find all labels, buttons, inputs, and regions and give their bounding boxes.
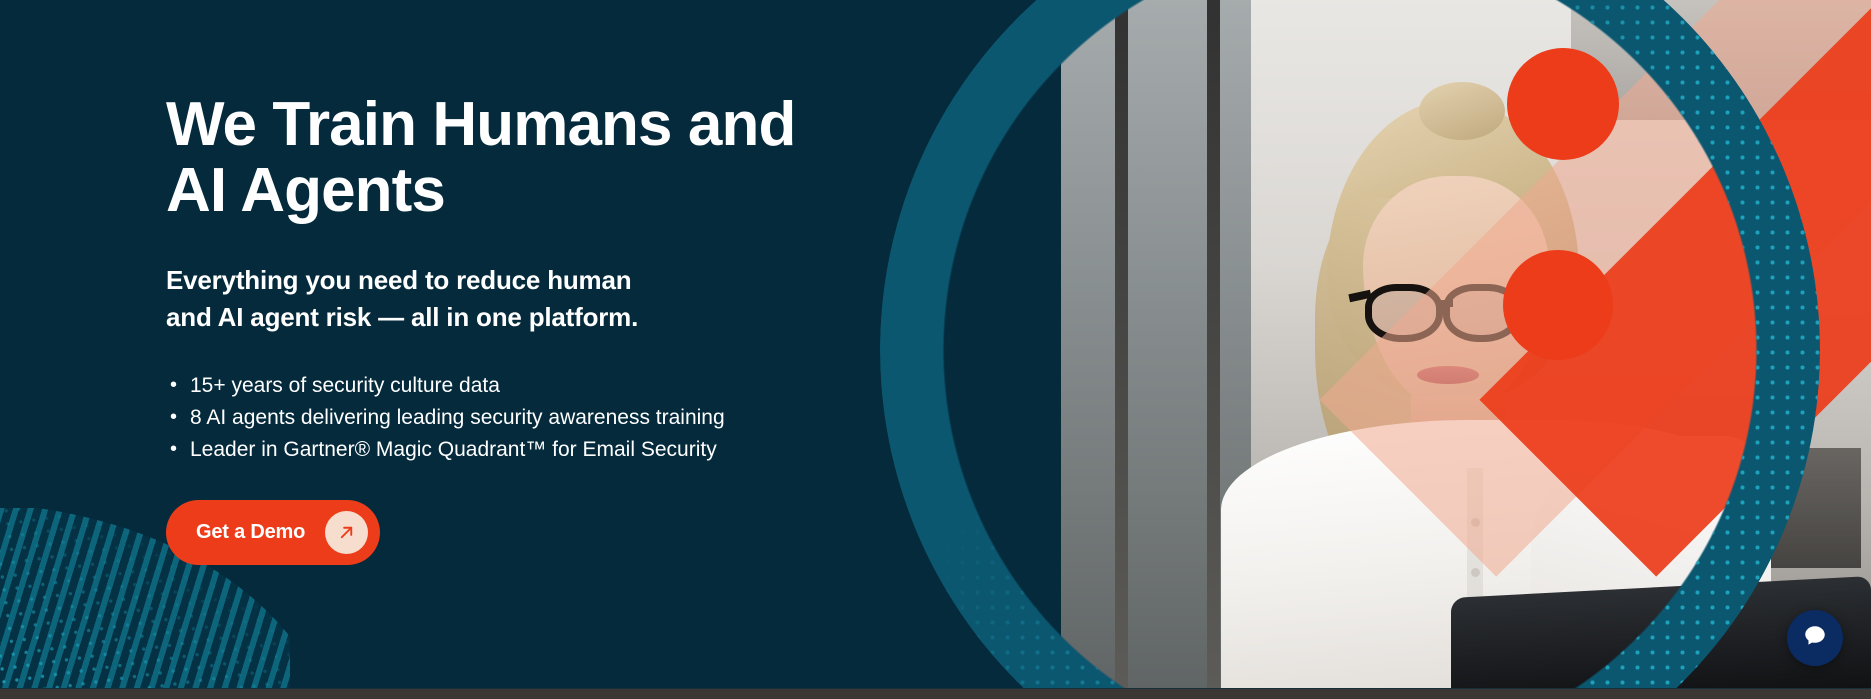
bullet-text: 15+ years of security culture data	[190, 374, 500, 397]
orange-circle-decoration	[1503, 250, 1613, 360]
hero-subheading: Everything you need to reduce human and …	[166, 262, 946, 336]
orange-circle-decoration	[1507, 48, 1619, 160]
subheading-line-1: Everything you need to reduce human	[166, 265, 631, 295]
page-title: We Train Humans and AI Agents	[166, 92, 946, 224]
hero-copy: We Train Humans and AI Agents Everything…	[166, 92, 946, 565]
window-mullion	[1115, 0, 1128, 688]
hair-bun	[1419, 82, 1505, 140]
headline-line-2: AI Agents	[166, 156, 445, 225]
chat-widget-button[interactable]	[1787, 610, 1843, 666]
blouse-button	[1471, 568, 1480, 577]
hero-photo	[1061, 0, 1871, 688]
chat-bubble-icon	[1802, 623, 1828, 654]
hero-banner: We Train Humans and AI Agents Everything…	[0, 0, 1871, 688]
list-item: Leader in Gartner® Magic Quadrant™ for E…	[166, 434, 946, 466]
bullet-text: Leader in Gartner® Magic Quadrant™ for E…	[190, 438, 717, 461]
arrow-up-right-icon	[325, 511, 368, 554]
cta-label: Get a Demo	[196, 521, 305, 544]
subheading-line-2: and AI agent risk — all in one platform.	[166, 302, 638, 332]
bullet-text: 8 AI agents delivering leading security …	[190, 406, 725, 429]
browser-bottom-bar	[0, 688, 1871, 699]
list-item: 8 AI agents delivering leading security …	[166, 402, 946, 434]
get-a-demo-button[interactable]: Get a Demo	[166, 500, 380, 565]
hero-bullet-list: 15+ years of security culture data 8 AI …	[166, 370, 946, 466]
headline-line-1: We Train Humans and	[166, 90, 795, 159]
list-item: 15+ years of security culture data	[166, 370, 946, 402]
window-mullion	[1207, 0, 1220, 688]
